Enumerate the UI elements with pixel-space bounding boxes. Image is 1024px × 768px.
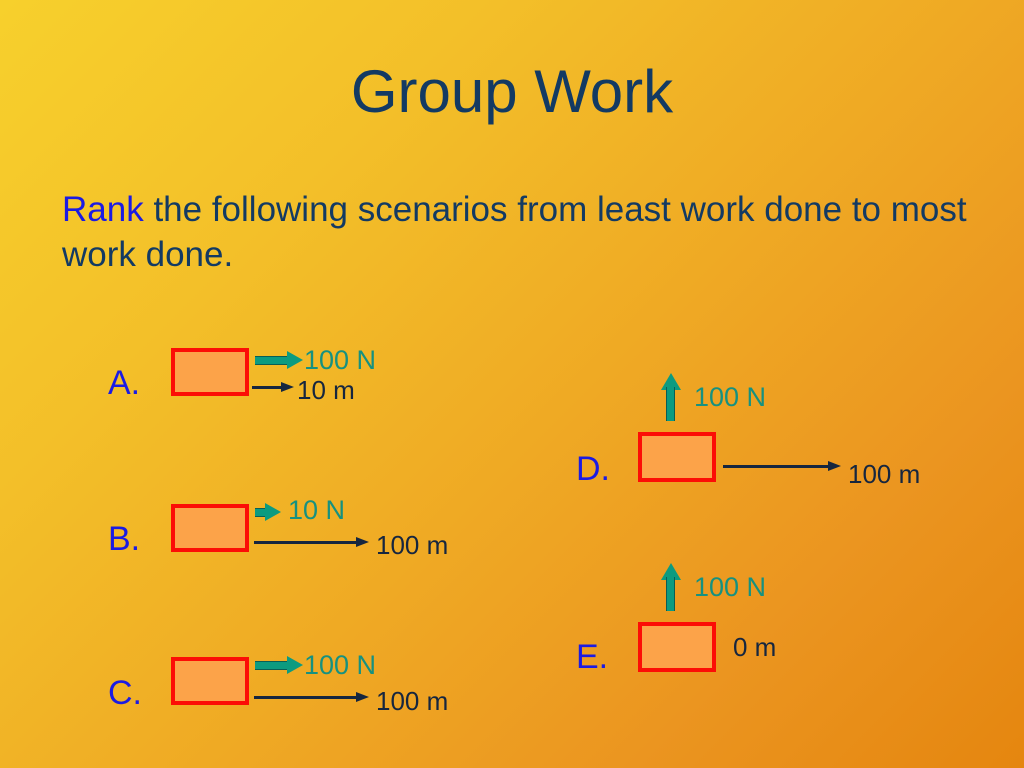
scenario-e-force-label: 100 N: [694, 574, 766, 601]
slide-title: Group Work: [0, 62, 1024, 122]
scenario-a-letter: A.: [108, 366, 140, 400]
prompt-body: the following scenarios from least work …: [62, 190, 967, 274]
scenario-e-displacement-label: 0 m: [733, 634, 776, 660]
scenario-a-displacement-label: 10 m: [297, 377, 355, 403]
scenario-a-force-arrow-icon: [255, 351, 303, 369]
prompt-keyword: Rank: [62, 190, 144, 229]
scenario-a-block: [171, 348, 249, 396]
slide-canvas: Group Work Rank the following scenarios …: [0, 0, 1024, 768]
scenario-c-displacement-label: 100 m: [376, 688, 448, 714]
scenario-b-displacement-arrow-icon: [254, 537, 369, 547]
scenario-a-force-label: 100 N: [304, 347, 376, 374]
scenario-e-force-arrow-icon: [661, 563, 681, 611]
scenario-d-letter: D.: [576, 452, 610, 486]
scenario-e-block: [638, 622, 716, 672]
scenario-e-letter: E.: [576, 640, 608, 674]
scenario-b-force-arrow-icon: [255, 503, 281, 521]
scenario-b-letter: B.: [108, 522, 140, 556]
scenario-b-force-label: 10 N: [288, 497, 345, 524]
scenario-d-force-arrow-icon: [661, 373, 681, 421]
scenario-c-displacement-arrow-icon: [254, 692, 369, 702]
scenario-c-block: [171, 657, 249, 705]
scenario-d-force-label: 100 N: [694, 384, 766, 411]
scenario-d-block: [638, 432, 716, 482]
scenario-c-force-label: 100 N: [304, 652, 376, 679]
scenario-c-force-arrow-icon: [255, 656, 303, 674]
scenario-c-letter: C.: [108, 676, 142, 710]
scenario-b-displacement-label: 100 m: [376, 532, 448, 558]
scenario-b-block: [171, 504, 249, 552]
scenario-d-displacement-arrow-icon: [723, 461, 841, 471]
scenario-a-displacement-arrow-icon: [252, 382, 294, 392]
scenario-d-displacement-label: 100 m: [848, 461, 920, 487]
prompt-text: Rank the following scenarios from least …: [62, 188, 982, 278]
